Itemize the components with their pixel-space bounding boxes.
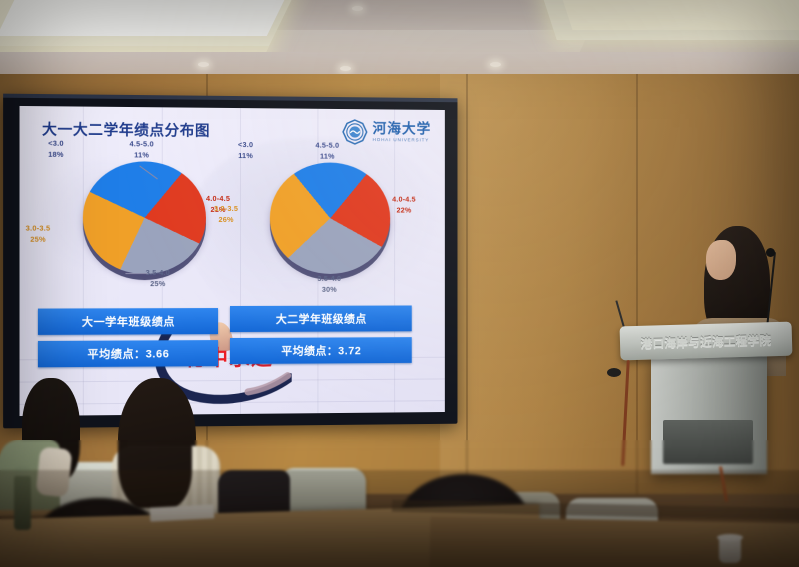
pie1-label-30-35: 3.0-3.5 25% bbox=[26, 224, 51, 245]
pie2-label-45-50: 4.5-5.0 11% bbox=[315, 141, 339, 162]
ceiling-light-panel-left bbox=[0, 0, 289, 36]
summary-box-sophomore-value: 平均绩点：3.72 bbox=[230, 337, 412, 364]
pie2-label-35-40: 3.5-4.0 30% bbox=[317, 274, 341, 295]
summary-value-text: 平均绩点：3.66 bbox=[87, 345, 169, 362]
ceiling-light-panel-right bbox=[560, 0, 799, 30]
foreground-shadow bbox=[0, 470, 799, 567]
logo-english-name: HOHAI UNIVERSITY bbox=[373, 138, 432, 143]
pie1-leader-line bbox=[125, 273, 147, 274]
pie2-label-below3: <3.0 11% bbox=[238, 140, 253, 161]
wall-seam bbox=[466, 74, 468, 494]
slide-gridline bbox=[394, 110, 395, 413]
podium-equipment-panel bbox=[663, 420, 753, 464]
hohai-emblem-icon bbox=[342, 119, 368, 145]
summary-value-text: 平均绩点：3.72 bbox=[281, 342, 361, 358]
lecture-room-photo: 大一大二学年绩点分布图 河海大学 HOHAI UNIVERSITY bbox=[0, 0, 799, 567]
summary-box-freshman-value: 平均绩点：3.66 bbox=[38, 340, 218, 367]
pie-slices bbox=[270, 162, 390, 274]
wall-seam bbox=[636, 74, 638, 494]
summary-title-text: 大一学年班级绩点 bbox=[82, 313, 175, 329]
pie1-label-below3: <3.0 18% bbox=[48, 139, 64, 160]
wall-highlight bbox=[440, 74, 640, 494]
projection-screen: 大一大二学年绩点分布图 河海大学 HOHAI UNIVERSITY bbox=[3, 94, 457, 429]
university-logo: 河海大学 HOHAI UNIVERSITY bbox=[342, 119, 431, 145]
downlight-icon bbox=[198, 62, 209, 67]
pie1-label-35-40: 3.5-4.0 25% bbox=[146, 268, 170, 289]
logo-chinese-name: 河海大学 bbox=[373, 122, 432, 136]
slide-gridline bbox=[83, 107, 84, 416]
pie-slices bbox=[83, 161, 206, 274]
ceiling-band bbox=[0, 52, 799, 74]
slide-title: 大一大二学年绩点分布图 bbox=[42, 118, 210, 141]
pie1-label-45-50: 4.5-5.0 11% bbox=[129, 139, 153, 160]
pie2-label-30-35: 3.0-3.5 26% bbox=[214, 204, 238, 225]
downlight-icon bbox=[352, 6, 363, 11]
presenter-face bbox=[706, 240, 736, 280]
summary-title-text: 大二学年班级绩点 bbox=[276, 311, 367, 327]
microphone-icon bbox=[766, 248, 775, 257]
pie2-label-40-45: 4.0-4.5 22% bbox=[392, 195, 416, 216]
downlight-icon bbox=[340, 66, 351, 71]
downlight-icon bbox=[490, 62, 501, 67]
presentation-slide: 大一大二学年绩点分布图 河海大学 HOHAI UNIVERSITY bbox=[20, 106, 445, 416]
podium-microphone-icon bbox=[607, 368, 621, 377]
summary-box-freshman-title: 大一学年班级绩点 bbox=[38, 308, 218, 335]
summary-box-sophomore-title: 大二学年班级绩点 bbox=[230, 306, 412, 333]
